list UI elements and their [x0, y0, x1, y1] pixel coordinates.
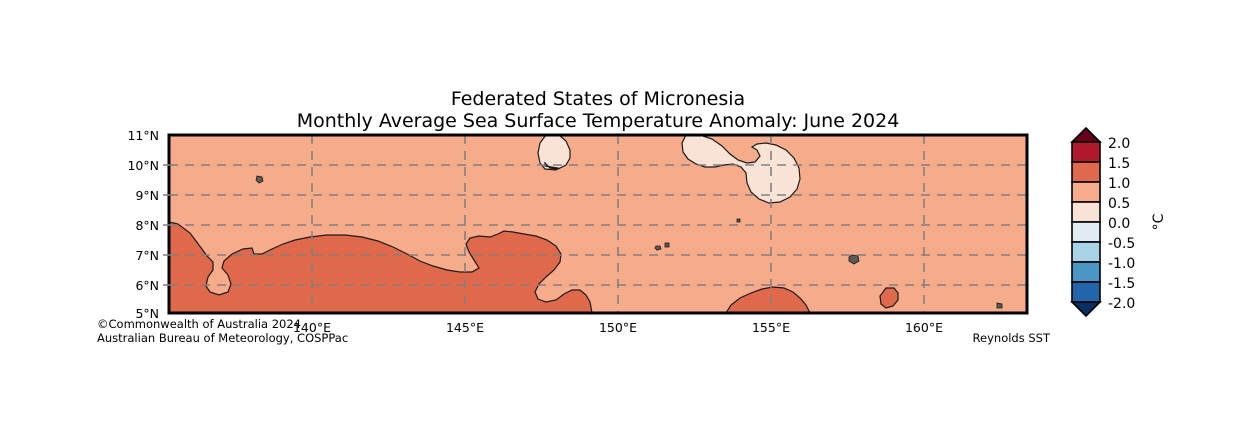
colorbar-band-1.5-to-2.0: [1072, 142, 1100, 162]
data-source-label: Reynolds SST: [973, 331, 1051, 345]
cb-tick-neg1.5: -1.5: [1108, 276, 1135, 292]
xlabel-160E: 160°E: [905, 320, 943, 335]
cb-tick-neg2.0: -2.0: [1108, 296, 1135, 312]
cb-tick-2.0: 2.0: [1108, 136, 1130, 152]
sst-anomaly-figure: Federated States of Micronesia Monthly A…: [0, 0, 1258, 447]
xlabel-155E: 155°E: [752, 320, 790, 335]
colorbar-band-1.0-to-1.5: [1072, 162, 1100, 182]
colorbar-band-0.0-to-0.5: [1072, 202, 1100, 222]
credit-line-1: ©Commonwealth of Australia 2024: [97, 317, 301, 331]
xlabel-145E: 145°E: [446, 320, 484, 335]
ylabel-7N: 7°N: [135, 248, 159, 263]
cb-tick-1.0: 1.0: [1108, 176, 1130, 192]
credit-line-2: Australian Bureau of Meteorology, COSPPa…: [97, 331, 348, 345]
cb-tick-neg1.0: -1.0: [1108, 256, 1135, 272]
ylabel-9N: 9°N: [135, 188, 159, 203]
chart-title-line2: Monthly Average Sea Surface Temperature …: [297, 110, 900, 132]
ylabel-8N: 8°N: [135, 218, 159, 233]
colorbar-band-neg1.0-to-neg0.5: [1072, 242, 1100, 262]
chart-title-line1: Federated States of Micronesia: [451, 88, 745, 110]
island-dot-north: [737, 219, 740, 222]
island-dot-chuuk: [655, 246, 661, 250]
map-panel: 11°N 10°N 9°N 8°N 7°N 6°N 5°N 140°E 145°…: [127, 128, 1027, 335]
map-raster: [169, 135, 1027, 313]
island-dot-chuuk-small: [665, 243, 669, 247]
colorbar-band-neg0.5-to-0.0: [1072, 222, 1100, 242]
cb-tick-1.5: 1.5: [1108, 156, 1130, 172]
cb-tick-neg0.5: -0.5: [1108, 236, 1135, 252]
xlabel-150E: 150°E: [599, 320, 637, 335]
cb-tick-0.5: 0.5: [1108, 196, 1130, 212]
ylabel-6N: 6°N: [135, 278, 159, 293]
colorbar-unit-label: °C: [1151, 213, 1167, 230]
cb-tick-0.0: 0.0: [1108, 216, 1130, 232]
island-dot-kosrae: [997, 303, 1002, 308]
colorbar-band-neg1.5-to-neg1.0: [1072, 262, 1100, 282]
colorbar-band-0.5-to-1.0: [1072, 182, 1100, 202]
ylabel-10N: 10°N: [127, 158, 159, 173]
colorbar-band-neg2.0-to-neg1.5: [1072, 282, 1100, 302]
ylabel-11N: 11°N: [127, 128, 159, 143]
